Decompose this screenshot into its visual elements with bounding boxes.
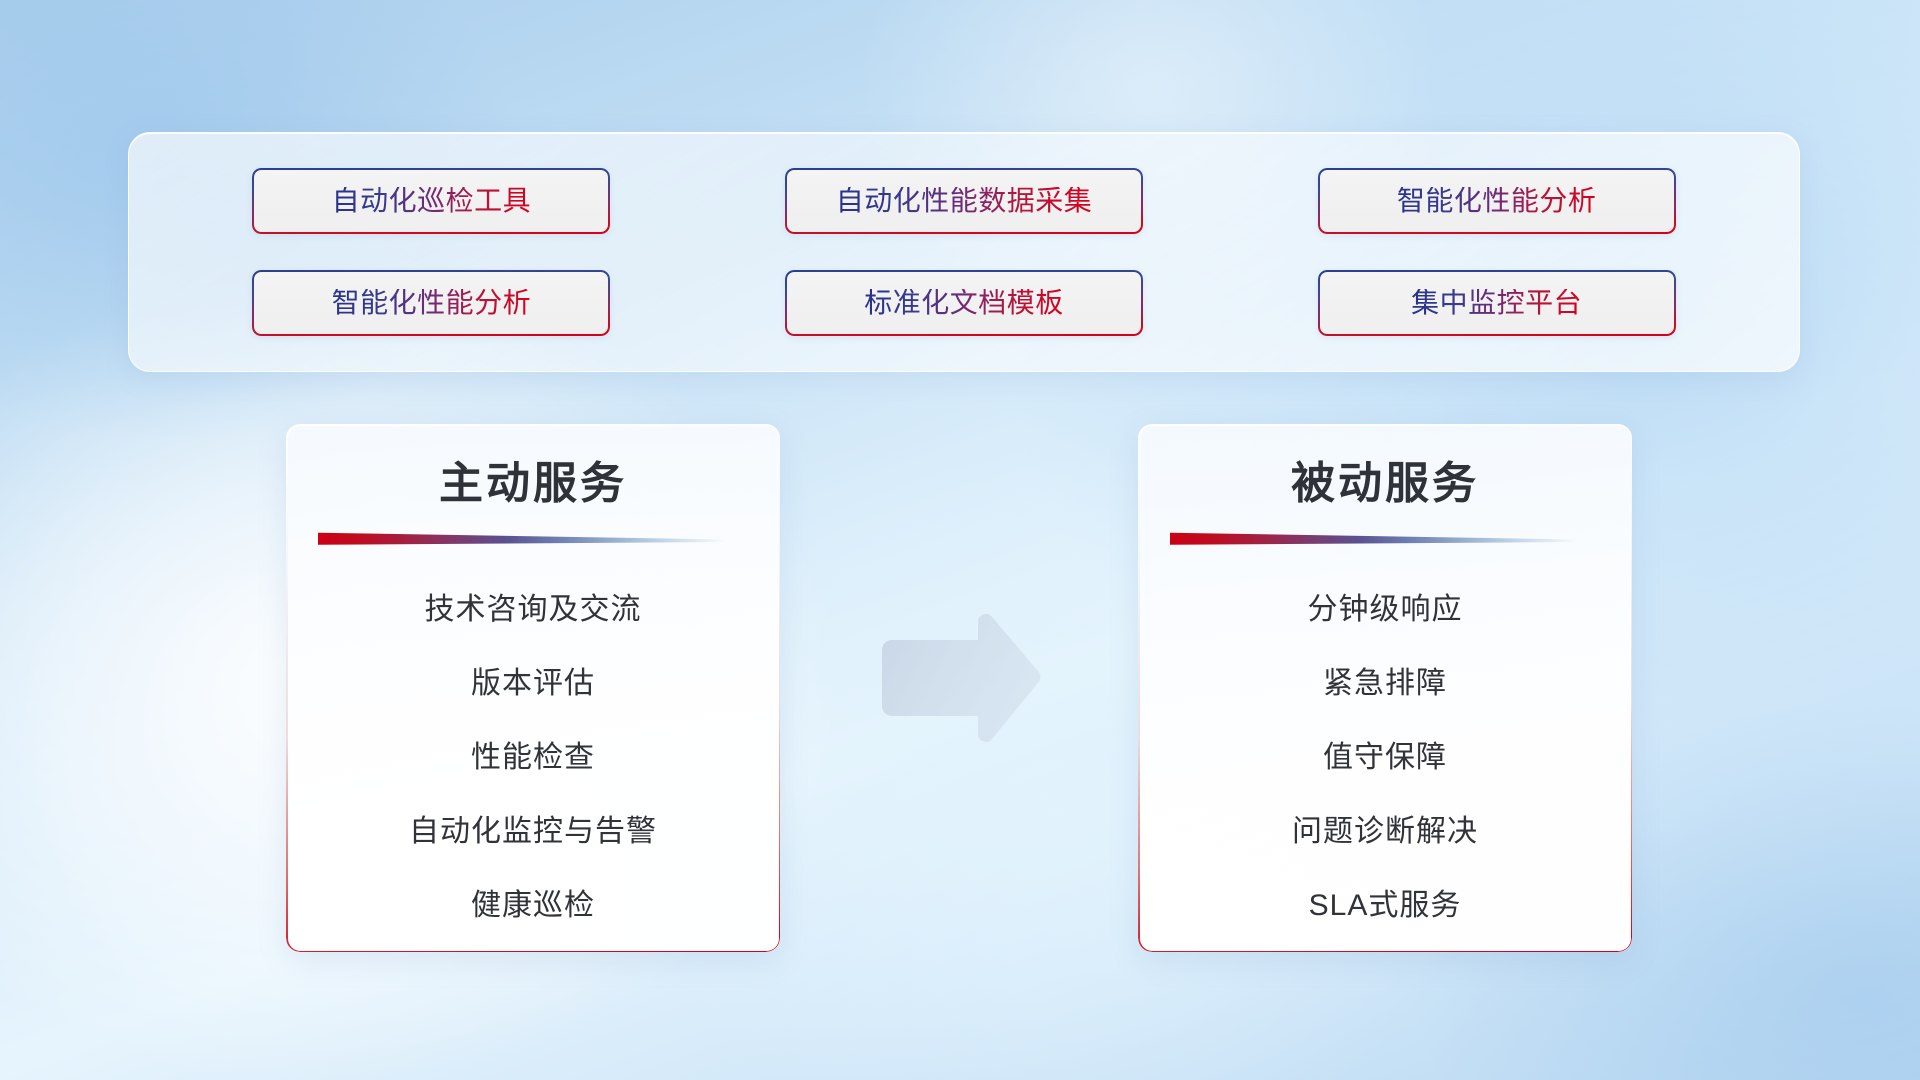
service-card-active: 主动服务 技术咨询及交流 版本评估 性能检查 自动化监控与告警 健康巡检 bbox=[286, 424, 780, 952]
title-divider-wedge bbox=[318, 531, 726, 545]
capability-tag-label: 智能化性能分析 bbox=[1397, 187, 1597, 215]
service-card-passive: 被动服务 分钟级响应 紧急排障 值守保障 问题诊断解决 SLA式服务 bbox=[1138, 424, 1632, 952]
capability-tag[interactable]: 智能化性能分析 bbox=[252, 270, 610, 336]
capability-tag-label: 智能化性能分析 bbox=[332, 289, 532, 317]
service-item: SLA式服务 bbox=[1166, 869, 1604, 943]
service-item: 性能检查 bbox=[314, 721, 752, 795]
service-item: 问题诊断解决 bbox=[1166, 795, 1604, 869]
title-divider bbox=[318, 531, 726, 545]
capability-tag[interactable]: 自动化性能数据采集 bbox=[785, 168, 1143, 234]
capability-tag-label: 自动化巡检工具 bbox=[332, 187, 532, 215]
capability-tag-label: 标准化文档模板 bbox=[864, 289, 1064, 317]
capability-tag[interactable]: 集中监控平台 bbox=[1318, 270, 1676, 336]
service-item: 版本评估 bbox=[314, 647, 752, 721]
capabilities-panel: 自动化巡检工具 自动化性能数据采集 智能化性能分析 智能化性能分析 标准化文档模… bbox=[128, 132, 1800, 372]
title-divider-wedge bbox=[1170, 531, 1578, 545]
service-card-active-title: 主动服务 bbox=[314, 458, 752, 511]
arrow-right-icon bbox=[874, 612, 1044, 744]
capability-tag[interactable]: 自动化巡检工具 bbox=[252, 168, 610, 234]
service-item: 健康巡检 bbox=[314, 869, 752, 943]
service-item-list: 技术咨询及交流 版本评估 性能检查 自动化监控与告警 健康巡检 bbox=[314, 573, 752, 943]
service-item: 技术咨询及交流 bbox=[314, 573, 752, 647]
title-divider bbox=[1170, 531, 1578, 545]
service-card-passive-body: 被动服务 分钟级响应 紧急排障 值守保障 问题诊断解决 SLA式服务 bbox=[1138, 424, 1632, 952]
service-item: 分钟级响应 bbox=[1166, 573, 1604, 647]
service-card-passive-title: 被动服务 bbox=[1166, 458, 1604, 511]
capability-tag-label: 自动化性能数据采集 bbox=[836, 187, 1093, 215]
service-item: 值守保障 bbox=[1166, 721, 1604, 795]
capability-tag-grid: 自动化巡检工具 自动化性能数据采集 智能化性能分析 智能化性能分析 标准化文档模… bbox=[129, 133, 1799, 371]
service-item: 紧急排障 bbox=[1166, 647, 1604, 721]
capability-tag[interactable]: 标准化文档模板 bbox=[785, 270, 1143, 336]
capability-tag-label: 集中监控平台 bbox=[1411, 289, 1582, 317]
service-item-list: 分钟级响应 紧急排障 值守保障 问题诊断解决 SLA式服务 bbox=[1166, 573, 1604, 943]
service-card-active-body: 主动服务 技术咨询及交流 版本评估 性能检查 自动化监控与告警 健康巡检 bbox=[286, 424, 780, 952]
capability-tag[interactable]: 智能化性能分析 bbox=[1318, 168, 1676, 234]
service-item: 自动化监控与告警 bbox=[314, 795, 752, 869]
